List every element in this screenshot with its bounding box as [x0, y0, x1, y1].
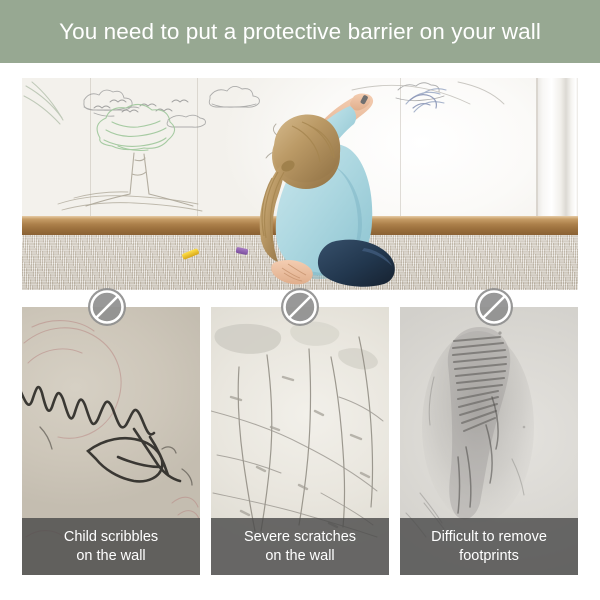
panel-caption-text: Child scribbles on the wall: [60, 528, 162, 566]
panel-child-scribbles: Child scribbles on the wall: [22, 307, 200, 575]
caption-line-2: on the wall: [76, 548, 145, 564]
problem-panels: Child scribbles on the wall: [22, 307, 578, 575]
prohibition-icon: [280, 287, 320, 327]
panel-caption: Difficult to remove footprints: [400, 518, 578, 575]
panel-caption: Child scribbles on the wall: [22, 518, 200, 575]
panel-caption: Severe scratches on the wall: [211, 518, 389, 575]
child-figure: [214, 92, 404, 290]
caption-line-1: Severe scratches: [244, 529, 356, 545]
panel-caption-text: Severe scratches on the wall: [240, 528, 360, 566]
hero-photo-child-drawing-on-wall: [22, 78, 578, 290]
prohibition-icon: [474, 287, 514, 327]
header-title: You need to put a protective barrier on …: [59, 19, 541, 45]
caption-line-1: Child scribbles: [64, 529, 158, 545]
door-casing: [538, 78, 578, 226]
caption-line-2: on the wall: [265, 548, 334, 564]
caption-line-1: Difficult to remove: [431, 529, 547, 545]
prohibition-icon: [87, 287, 127, 327]
panel-caption-text: Difficult to remove footprints: [427, 528, 551, 566]
panel-difficult-footprints: Difficult to remove footprints: [400, 307, 578, 575]
header-banner: You need to put a protective barrier on …: [0, 0, 600, 63]
panel-severe-scratches: Severe scratches on the wall: [211, 307, 389, 575]
promo-infographic: You need to put a protective barrier on …: [0, 0, 600, 600]
caption-line-2: footprints: [459, 548, 519, 564]
